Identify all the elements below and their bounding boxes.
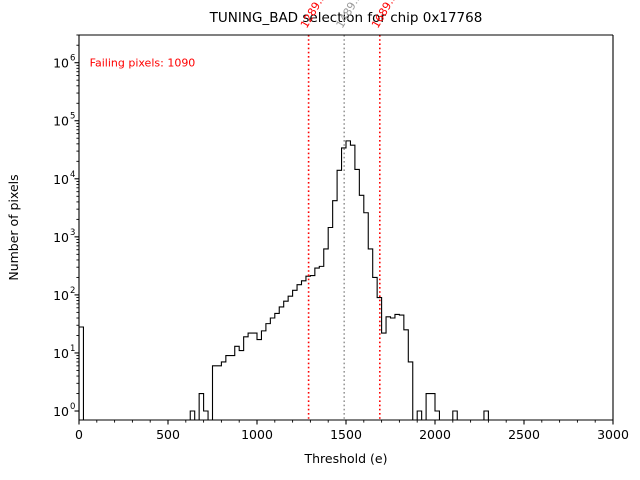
figure-background bbox=[0, 0, 640, 480]
xtick-label-1000: 1000 bbox=[241, 427, 273, 442]
ytick-label-10^6: 10 bbox=[53, 56, 69, 71]
ytick-label-10^5: 10 bbox=[53, 114, 69, 129]
ytick-exponent-2: 2 bbox=[70, 286, 75, 296]
xtick-label-1500: 1500 bbox=[330, 427, 362, 442]
ytick-label-10^2: 10 bbox=[53, 288, 69, 303]
xtick-label-2000: 2000 bbox=[419, 427, 451, 442]
xtick-label-2500: 2500 bbox=[508, 427, 540, 442]
xtick-label-3000: 3000 bbox=[597, 427, 629, 442]
ytick-label-10^1: 10 bbox=[53, 346, 69, 361]
ytick-exponent-0: 0 bbox=[70, 402, 75, 412]
ytick-label-10^3: 10 bbox=[53, 230, 69, 245]
ytick-exponent-3: 3 bbox=[70, 228, 75, 238]
matplotlib-figure: TUNING_BAD selection for chip 0x17768128… bbox=[0, 0, 640, 480]
ytick-label-10^0: 10 bbox=[53, 404, 69, 419]
ytick-exponent-5: 5 bbox=[70, 112, 75, 122]
histogram-plot: TUNING_BAD selection for chip 0x17768128… bbox=[0, 0, 640, 480]
ytick-exponent-4: 4 bbox=[70, 170, 75, 180]
y-axis-label: Number of pixels bbox=[6, 174, 21, 280]
x-axis-label: Threshold (e) bbox=[303, 451, 387, 466]
ytick-label-10^4: 10 bbox=[53, 172, 69, 187]
ytick-exponent-6: 6 bbox=[70, 54, 75, 64]
xtick-label-0: 0 bbox=[75, 427, 83, 442]
failing-pixels-annotation: Failing pixels: 1090 bbox=[90, 57, 196, 70]
ytick-exponent-1: 1 bbox=[70, 344, 75, 354]
xtick-label-500: 500 bbox=[156, 427, 180, 442]
